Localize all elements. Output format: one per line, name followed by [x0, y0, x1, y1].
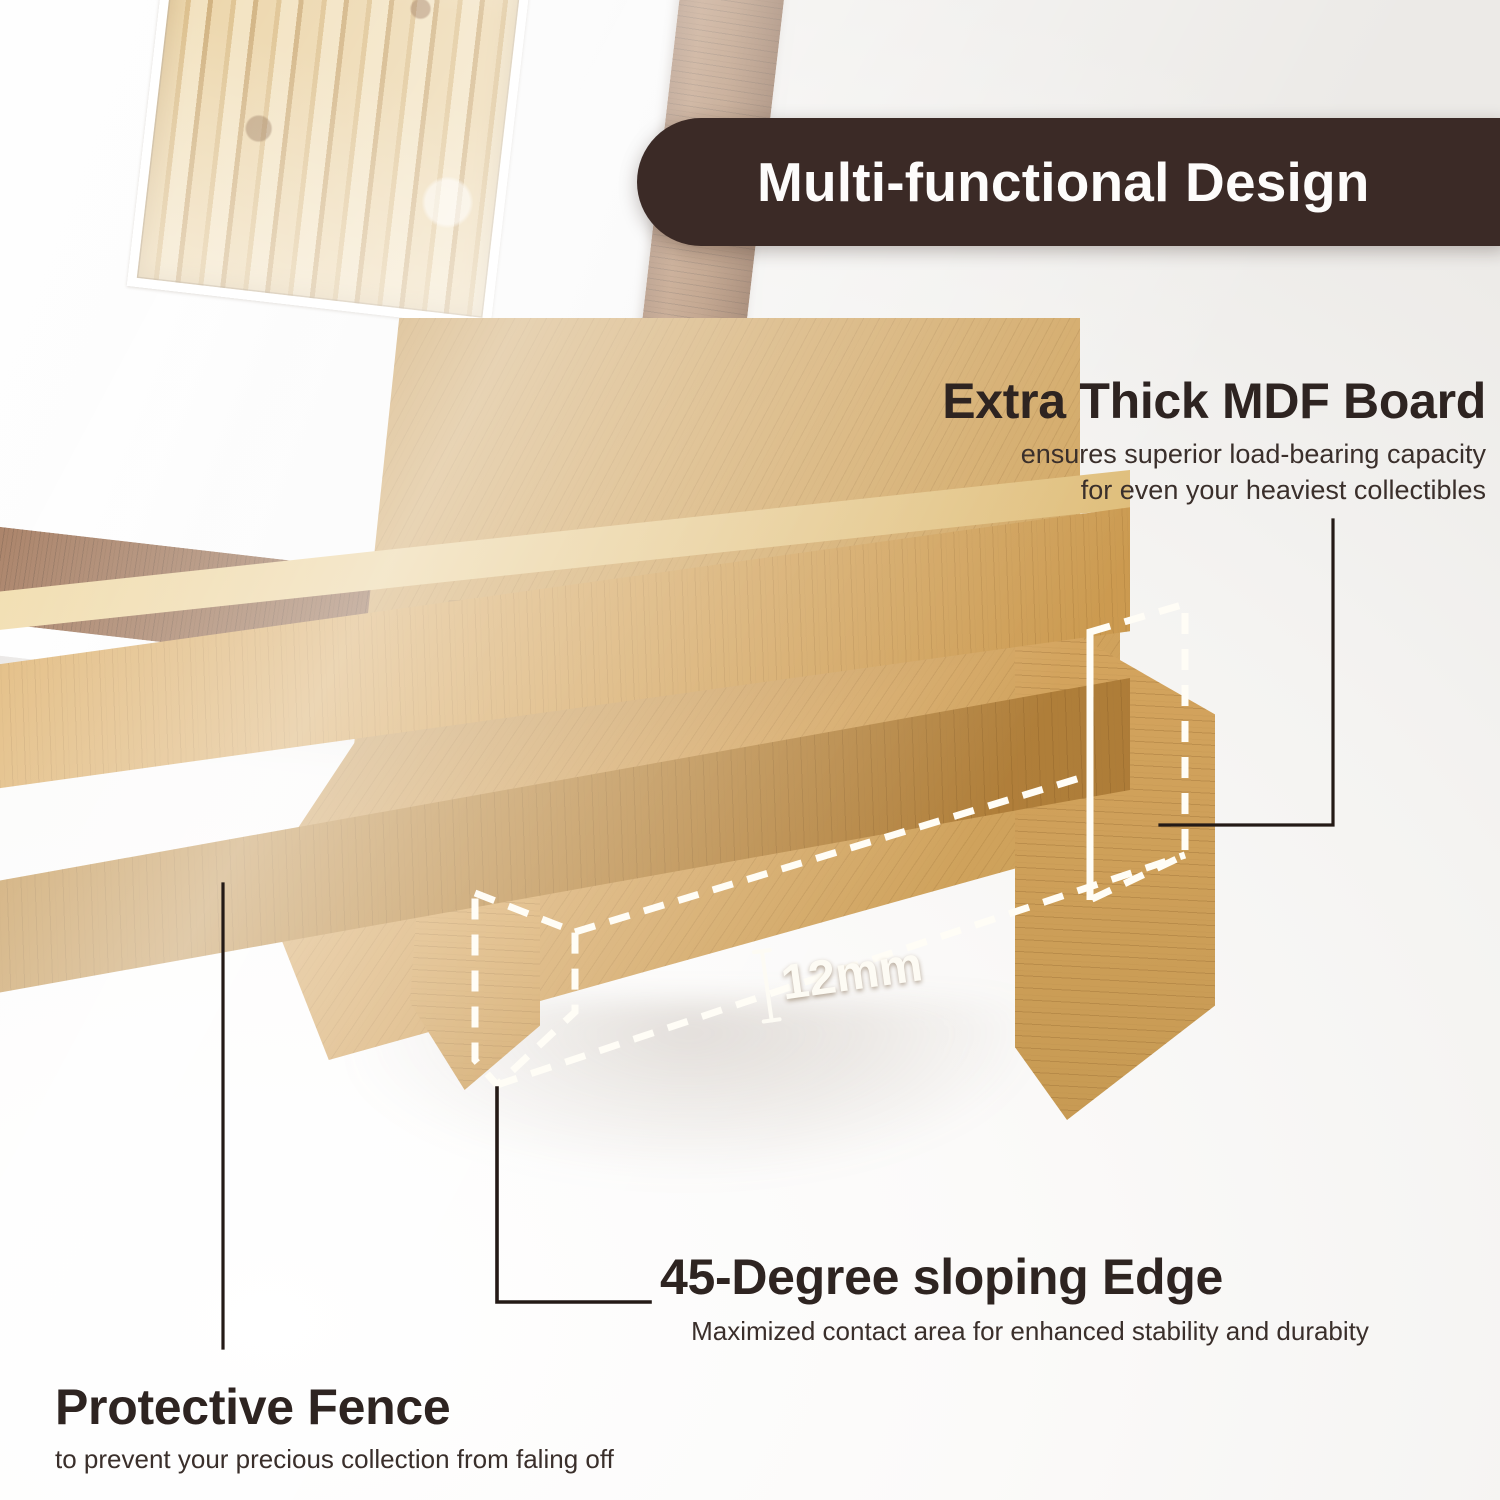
shelf-right-end-cap — [1015, 600, 1215, 1120]
product-feature-image: Multi-functional Design 12mm Extra Thick… — [0, 0, 1500, 1500]
callout-title: Extra Thick MDF Board — [866, 372, 1486, 430]
callout-title: Protective Fence — [55, 1378, 755, 1436]
callout-subtitle-line: ensures superior load-bearing capacity — [866, 437, 1486, 473]
callout-subtitle: Maximized contact area for enhanced stab… — [660, 1314, 1400, 1348]
callout-title: 45-Degree sloping Edge — [660, 1248, 1400, 1306]
mat-bevel-opening — [127, 0, 542, 328]
headline-badge: Multi-functional Design — [637, 118, 1500, 246]
thickness-dimension-label: 12mm — [778, 936, 926, 1011]
headline-badge-label: Multi-functional Design — [757, 150, 1370, 214]
callout-protective-fence: Protective Fence to prevent your preciou… — [55, 1378, 755, 1476]
callout-extra-thick-mdf-board: Extra Thick MDF Board ensures superior l… — [866, 372, 1486, 508]
callout-subtitle: ensures superior load-bearing capacity f… — [866, 437, 1486, 508]
callout-45-degree-sloping-edge: 45-Degree sloping Edge Maximized contact… — [660, 1248, 1400, 1348]
callout-subtitle-line: for even your heaviest collectibles — [866, 473, 1486, 509]
callout-subtitle: to prevent your precious collection from… — [55, 1442, 755, 1476]
